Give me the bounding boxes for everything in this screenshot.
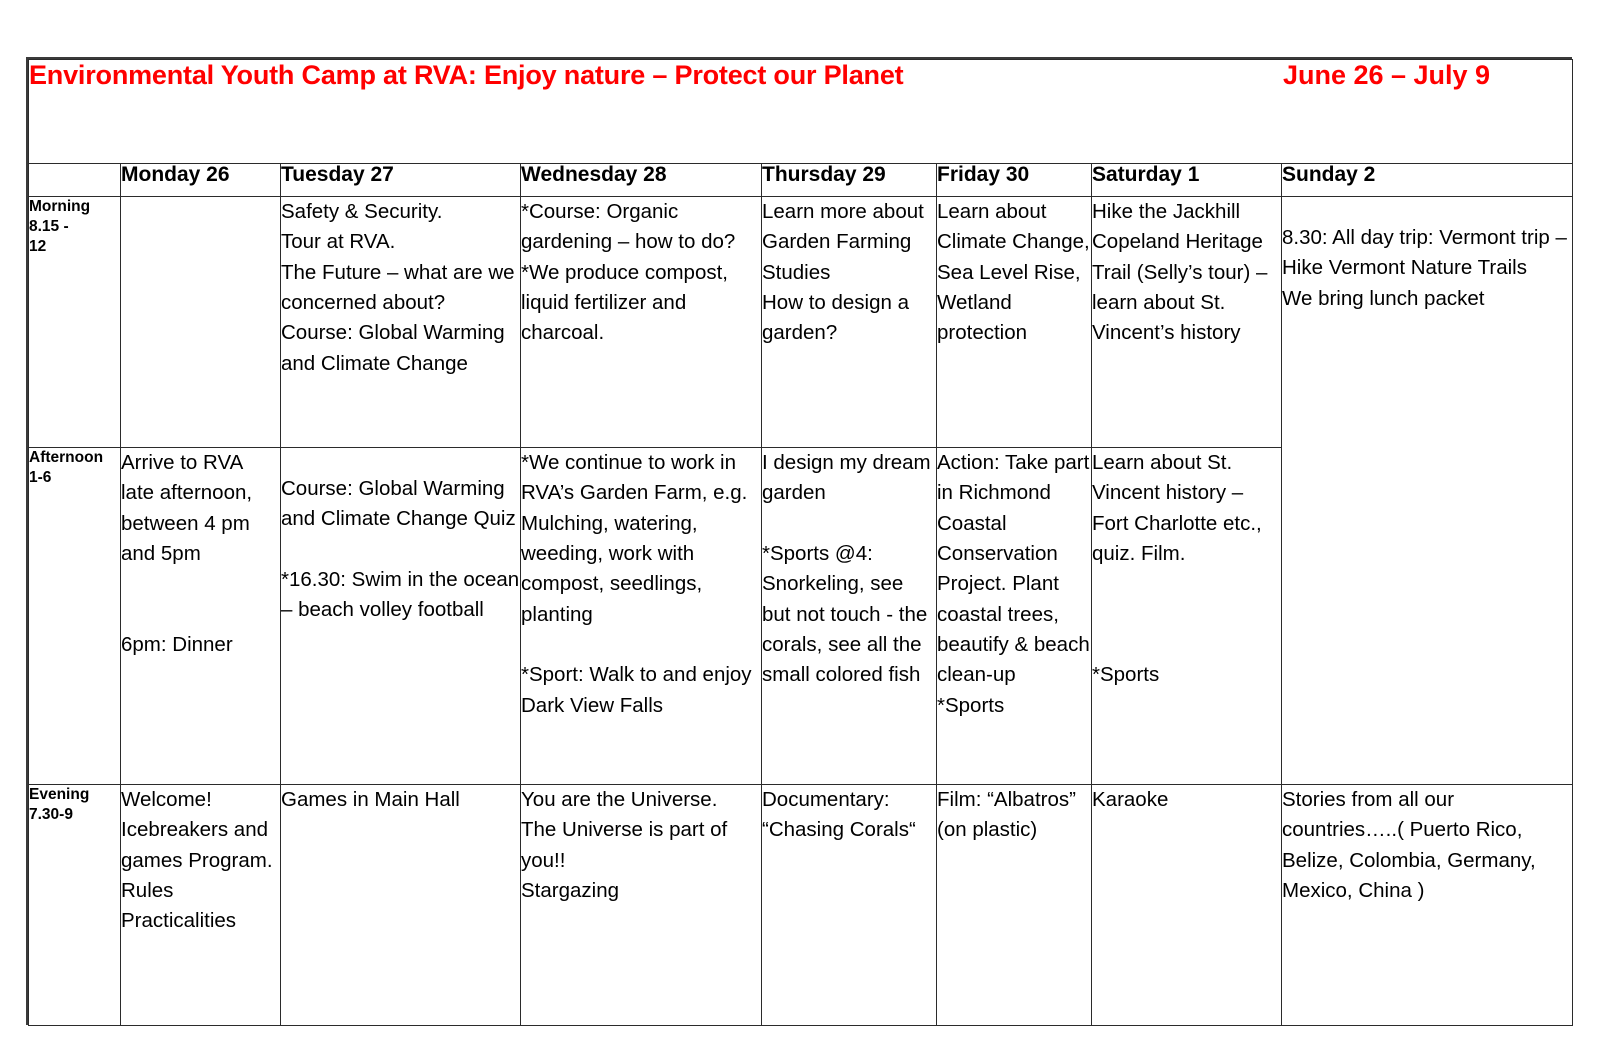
date-range: June 26 – July 9 xyxy=(1283,60,1572,91)
header-corner-cell xyxy=(29,164,121,197)
column-header-wednesday: Wednesday 28 xyxy=(521,164,762,197)
cell-evening-wednesday: You are the Universe. The Universe is pa… xyxy=(521,785,762,1026)
cell-afternoon-thursday: I design my dream garden *Sports @4: Sno… xyxy=(762,448,937,785)
cell-afternoon-tuesday: Course: Global Warming and Climate Chang… xyxy=(281,448,521,785)
camp-schedule-table: Environmental Youth Camp at RVA: Enjoy n… xyxy=(28,59,1573,1026)
cell-afternoon-saturday: Learn about St. Vincent history – Fort C… xyxy=(1092,448,1282,785)
cell-morning-friday: Learn about Climate Change, Sea Level Ri… xyxy=(937,197,1092,448)
column-header-friday: Friday 30 xyxy=(937,164,1092,197)
cell-afternoon-friday: Action: Take part in Richmond Coastal Co… xyxy=(937,448,1092,785)
slot-label-morning: Morning 8.15 - 12 xyxy=(29,197,121,448)
day-header-row: Monday 26 Tuesday 27 Wednesday 28 Thursd… xyxy=(29,164,1573,197)
slot-label-evening: Evening 7.30-9 xyxy=(29,785,121,1026)
column-header-sunday: Sunday 2 xyxy=(1282,164,1573,197)
table-row-morning: Morning 8.15 - 12 Safety & Security. Tou… xyxy=(29,197,1573,448)
cell-morning-tuesday: Safety & Security. Tour at RVA. The Futu… xyxy=(281,197,521,448)
cell-evening-thursday: Documentary: “Chasing Corals“ xyxy=(762,785,937,1026)
cell-evening-tuesday: Games in Main Hall xyxy=(281,785,521,1026)
slot-label-afternoon: Afternoon 1-6 xyxy=(29,448,121,785)
title-banner-cell: Environmental Youth Camp at RVA: Enjoy n… xyxy=(29,60,1573,164)
cell-afternoon-monday: Arrive to RVA late afternoon, between 4 … xyxy=(121,448,281,785)
column-header-monday: Monday 26 xyxy=(121,164,281,197)
cell-evening-monday: Welcome! Icebreakers and games Program. … xyxy=(121,785,281,1026)
schedule-table-frame: Environmental Youth Camp at RVA: Enjoy n… xyxy=(26,57,1572,1025)
schedule-page: Environmental Youth Camp at RVA: Enjoy n… xyxy=(0,0,1600,1052)
table-row-evening: Evening 7.30-9 Welcome! Icebreakers and … xyxy=(29,785,1573,1026)
title-row: Environmental Youth Camp at RVA: Enjoy n… xyxy=(29,60,1573,164)
column-header-thursday: Thursday 29 xyxy=(762,164,937,197)
page-title: Environmental Youth Camp at RVA: Enjoy n… xyxy=(29,60,903,91)
cell-afternoon-wednesday: *We continue to work in RVA’s Garden Far… xyxy=(521,448,762,785)
cell-morning-monday xyxy=(121,197,281,448)
cell-evening-friday: Film: “Albatros” (on plastic) xyxy=(937,785,1092,1026)
cell-morning-thursday: Learn more about Garden Farming Studies … xyxy=(762,197,937,448)
cell-morning-afternoon-sunday: 8.30: All day trip: Vermont trip – Hike … xyxy=(1282,197,1573,785)
cell-morning-saturday: Hike the Jackhill Copeland Heritage Trai… xyxy=(1092,197,1282,448)
cell-morning-wednesday: *Course: Organic gardening – how to do? … xyxy=(521,197,762,448)
column-header-tuesday: Tuesday 27 xyxy=(281,164,521,197)
cell-evening-sunday: Stories from all our countries…..( Puert… xyxy=(1282,785,1573,1026)
column-header-saturday: Saturday 1 xyxy=(1092,164,1282,197)
cell-evening-saturday: Karaoke xyxy=(1092,785,1282,1026)
